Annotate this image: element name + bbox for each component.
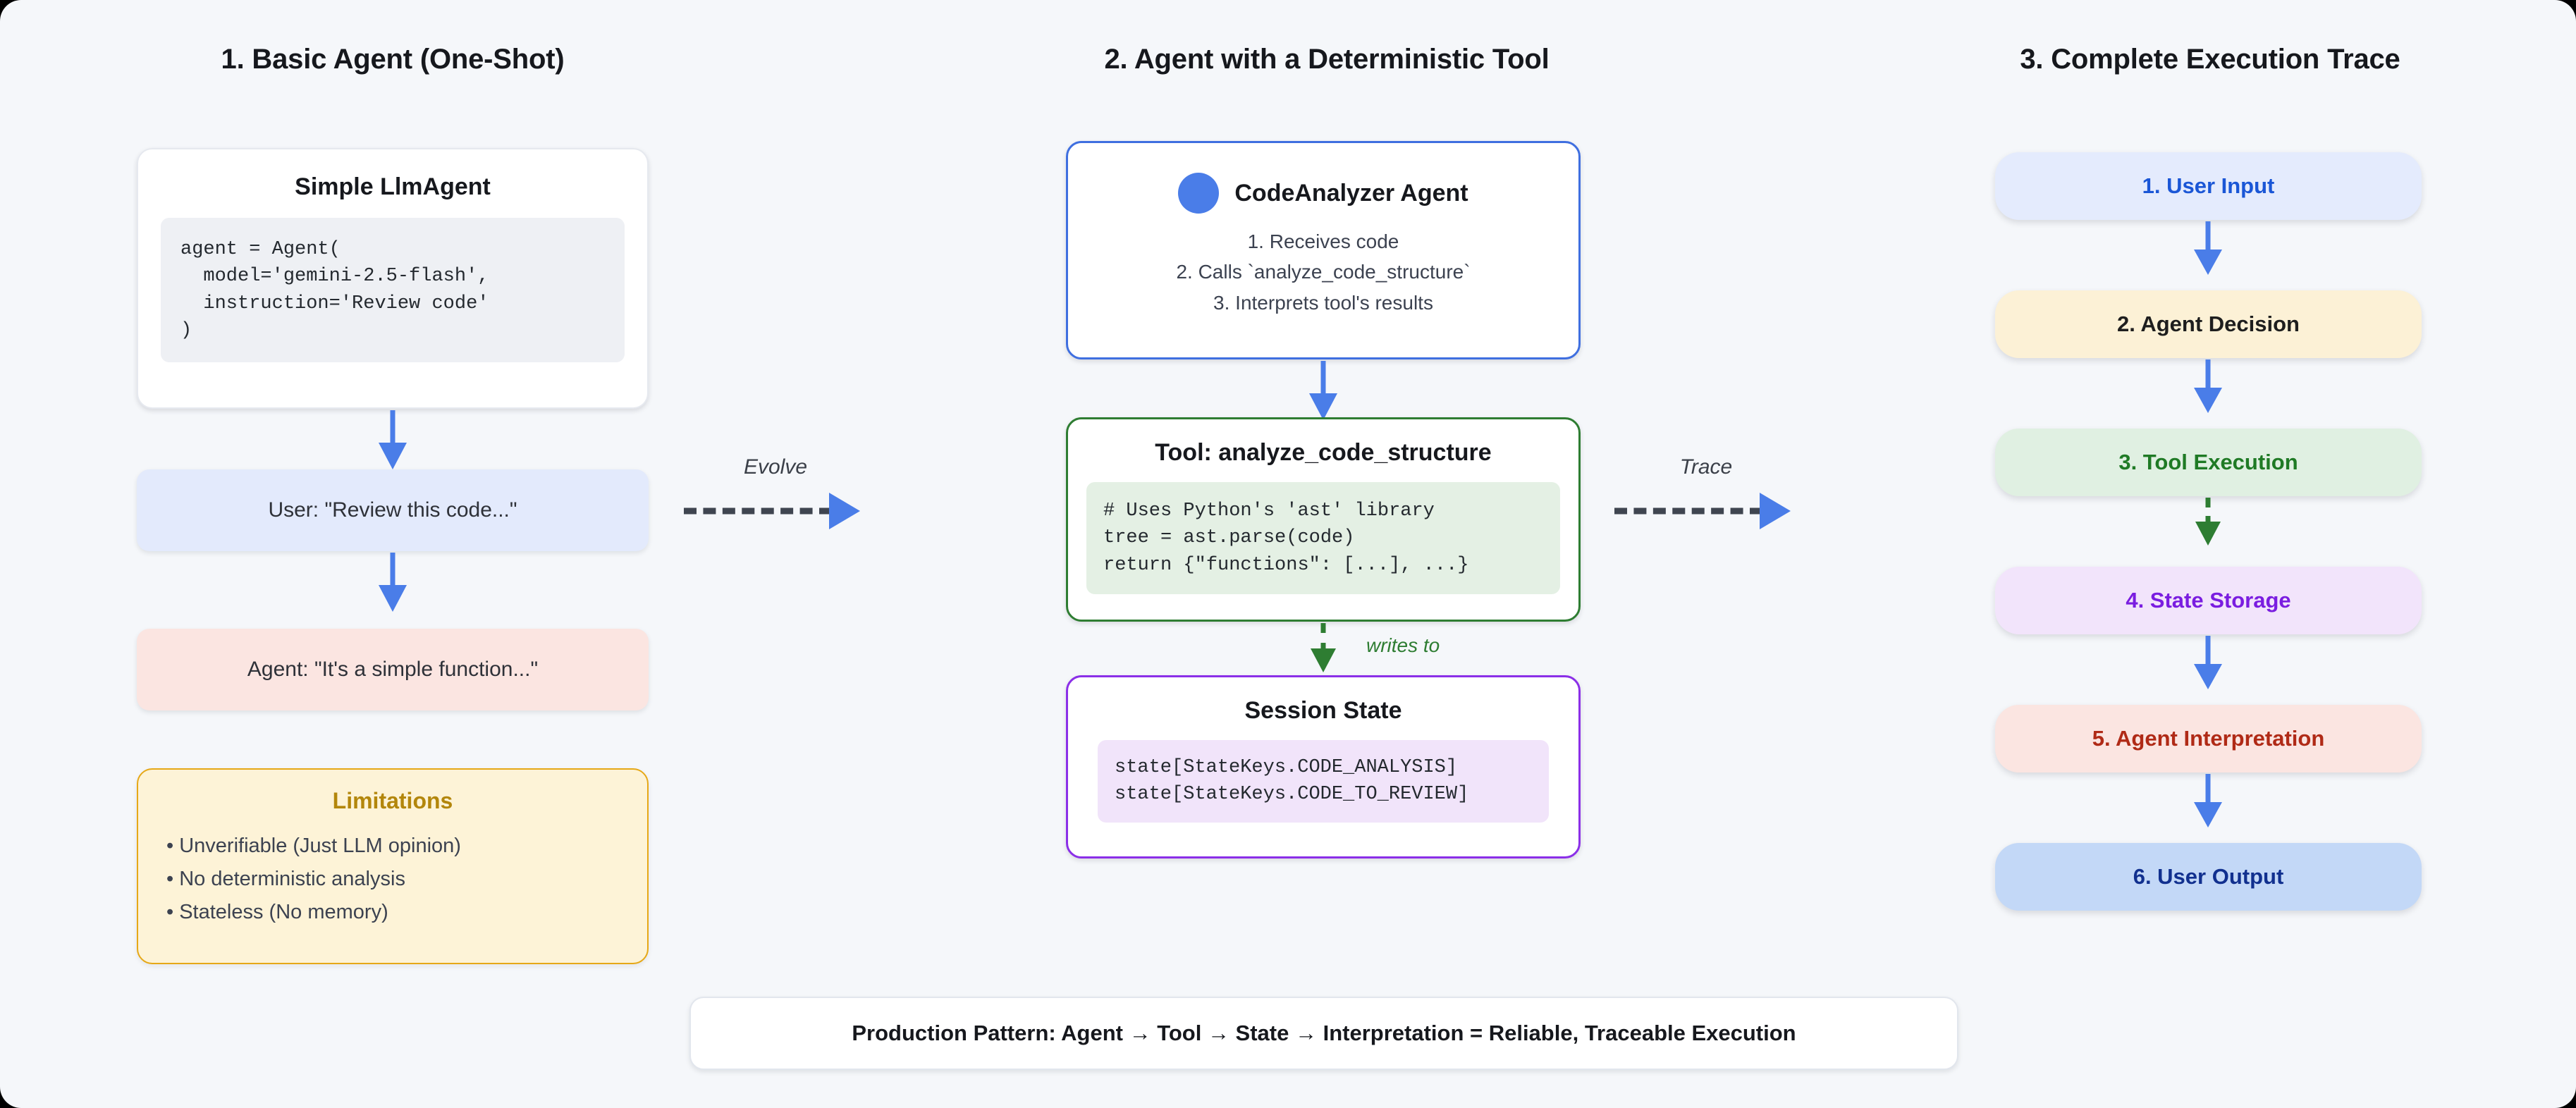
tool-card-title: Tool: analyze_code_structure xyxy=(1068,439,1578,467)
simple-llmagent-title: Simple LlmAgent xyxy=(138,173,647,201)
codeanalyzer-agent-title: CodeAnalyzer Agent xyxy=(1234,180,1468,207)
arrow-agent-to-tool xyxy=(1309,361,1337,420)
trace-step-1: 1. User Input xyxy=(1995,152,2422,220)
trace-step-label: 4. State Storage xyxy=(2126,588,2290,613)
evolve-label: Evolve xyxy=(684,455,867,479)
codeanalyzer-steps: 1. Receives code 2. Calls `analyze_code_… xyxy=(1068,226,1578,318)
simple-llmagent-code: agent = Agent( model='gemini-2.5-flash',… xyxy=(161,218,625,362)
agent-message-bubble: Agent: "It's a simple function..." xyxy=(137,629,649,710)
column-title-2: 2. Agent with a Deterministic Tool xyxy=(1024,44,1630,75)
trace-step-label: 3. Tool Execution xyxy=(2118,450,2298,475)
trace-step-2: 2. Agent Decision xyxy=(1995,290,2422,358)
trace-step-label: 1. User Input xyxy=(2142,173,2275,199)
trace-step-label: 5. Agent Interpretation xyxy=(2092,726,2325,751)
trace-step-label: 2. Agent Decision xyxy=(2117,312,2300,337)
codeanalyzer-header: CodeAnalyzer Agent xyxy=(1068,173,1578,214)
agent-step: 3. Interprets tool's results xyxy=(1068,288,1578,318)
codeanalyzer-agent-card: CodeAnalyzer Agent 1. Receives code 2. C… xyxy=(1066,141,1581,359)
trace-step-4: 4. State Storage xyxy=(1995,567,2422,634)
agent-step: 2. Calls `analyze_code_structure` xyxy=(1068,257,1578,287)
trace-step-3: 3. Tool Execution xyxy=(1995,429,2422,496)
arrow-step2-to-step3 xyxy=(2194,359,2222,413)
tool-card-code: # Uses Python's 'ast' library tree = ast… xyxy=(1086,482,1560,594)
trace-connector: Trace xyxy=(1614,486,1798,536)
arrow-step1-to-step2 xyxy=(2194,221,2222,275)
simple-llmagent-card: Simple LlmAgent agent = Agent( model='ge… xyxy=(137,148,649,409)
production-pattern-banner: Production Pattern: Agent → Tool → State… xyxy=(689,997,1958,1070)
list-item: • No deterministic analysis xyxy=(166,863,647,896)
writes-to-label: writes to xyxy=(1366,634,1440,657)
production-pattern-text: Production Pattern: Agent → Tool → State… xyxy=(852,1021,1796,1046)
trace-step-6: 6. User Output xyxy=(1995,843,2422,911)
list-item: • Stateless (No memory) xyxy=(166,896,647,929)
user-message-bubble: User: "Review this code..." xyxy=(137,469,649,551)
session-state-card: Session State state[StateKeys.CODE_ANALY… xyxy=(1066,675,1581,858)
user-message-text: User: "Review this code..." xyxy=(268,498,517,522)
arrow-agentcard-to-user xyxy=(379,410,407,469)
arrow-user-to-agent xyxy=(379,553,407,612)
arrow-step5-to-step6 xyxy=(2194,774,2222,827)
list-item: • Unverifiable (Just LLM opinion) xyxy=(166,830,647,863)
limitations-card: Limitations • Unverifiable (Just LLM opi… xyxy=(137,768,649,964)
column-title-3: 3. Complete Execution Trace xyxy=(1967,44,2453,75)
agent-message-text: Agent: "It's a simple function..." xyxy=(247,658,538,682)
limitations-list: • Unverifiable (Just LLM opinion) • No d… xyxy=(166,830,647,929)
arrow-step3-to-step4 xyxy=(2194,498,2222,551)
diagram-canvas: 1. Basic Agent (One-Shot) 2. Agent with … xyxy=(0,0,2576,1108)
arrow-step4-to-step5 xyxy=(2194,636,2222,689)
trace-step-5: 5. Agent Interpretation xyxy=(1995,705,2422,772)
limitations-title: Limitations xyxy=(138,788,647,814)
session-state-code: state[StateKeys.CODE_ANALYSIS] state[Sta… xyxy=(1098,740,1549,823)
agent-circle-icon xyxy=(1178,173,1219,214)
trace-label: Trace xyxy=(1614,455,1798,479)
tool-card: Tool: analyze_code_structure # Uses Pyth… xyxy=(1066,417,1581,622)
arrow-tool-to-state xyxy=(1309,623,1337,679)
agent-step: 1. Receives code xyxy=(1068,226,1578,257)
column-title-1: 1. Basic Agent (One-Shot) xyxy=(137,44,649,75)
trace-step-label: 6. User Output xyxy=(2133,864,2284,890)
session-state-title: Session State xyxy=(1068,697,1578,725)
evolve-connector: Evolve xyxy=(684,486,867,536)
